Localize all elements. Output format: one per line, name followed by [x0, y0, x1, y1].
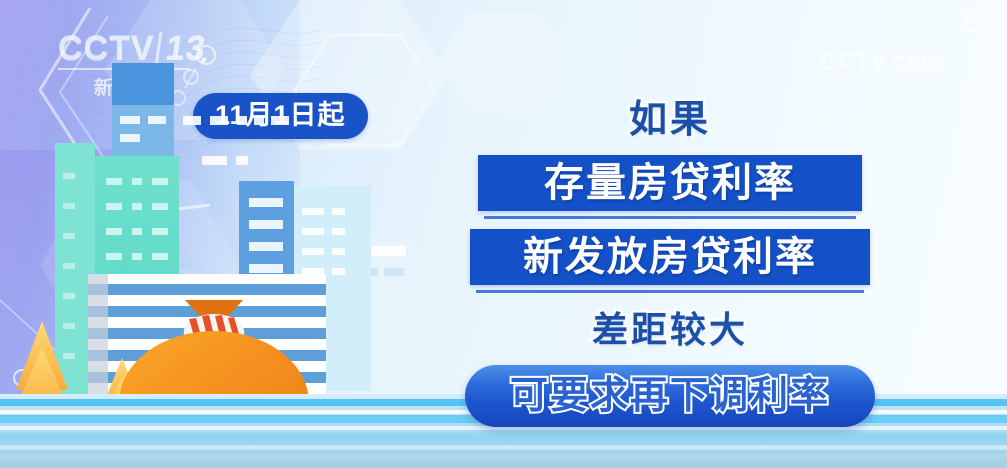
headline-pill: 可要求再下调利率 [465, 365, 875, 427]
headline-line-1: 如果 [470, 88, 870, 143]
headline-line-4: 差距较大 [470, 301, 870, 353]
picture-in-picture-icon [965, 8, 995, 32]
building-top-blue [112, 63, 174, 158]
headline-line-2: 存量房贷利率 [478, 155, 862, 211]
headline-line-3: 新发放房贷利率 [470, 229, 870, 285]
ground-stripe-7 [0, 453, 1007, 460]
floating-windows [183, 116, 289, 165]
news-graphic: CCTV 13 新 闻 CCTV.com 11月1日起 [0, 0, 1007, 468]
headline-line-5: 可要求再下调利率 [465, 365, 875, 427]
headline-bar-2: 新发放房贷利率 [470, 229, 870, 285]
cctv-com-watermark: CCTV.com [820, 48, 943, 76]
ground-stripe-5 [0, 433, 1007, 442]
headline-bar-1: 存量房贷利率 [478, 155, 862, 211]
headline-block: 如果 存量房贷利率 新发放房贷利率 差距较大 可要求再下调利率 [470, 88, 870, 427]
ground-stripe-6 [0, 445, 1007, 450]
